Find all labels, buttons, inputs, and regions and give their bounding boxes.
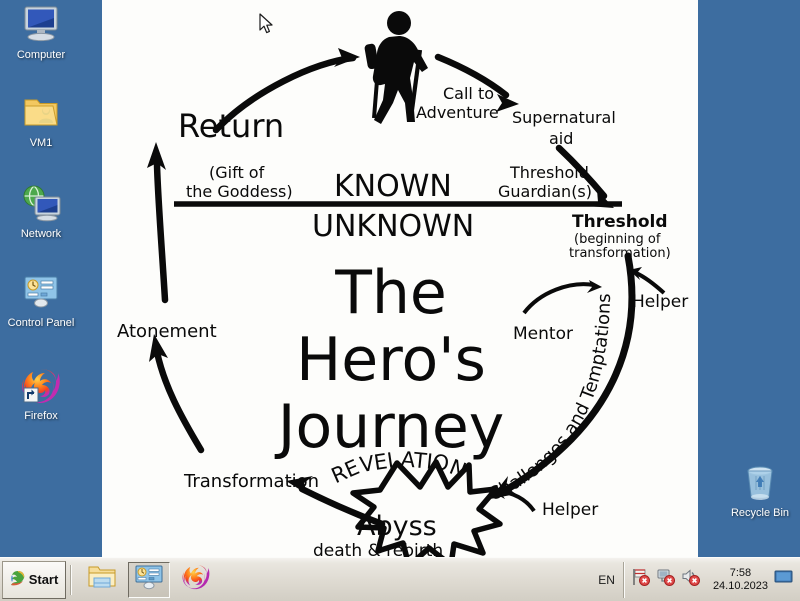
heros-journey-diagram: Return (Gift of the Goddess) KNOWN UNKNO…	[102, 0, 698, 557]
diagram-title-line-3: Journey	[274, 392, 505, 462]
label-return: Return	[178, 107, 284, 145]
recycle-bin-icon	[721, 462, 799, 506]
diagram-svg: Return (Gift of the Goddess) KNOWN UNKNO…	[102, 0, 698, 557]
label-helper-top: Helper	[632, 292, 688, 312]
tray-icons[interactable]	[623, 562, 707, 598]
label-threshold-sub-1: (beginning of	[574, 232, 661, 247]
challenges-arc	[490, 256, 632, 499]
atonement-arrow	[149, 334, 201, 450]
label-supernatural-aid-2: aid	[549, 129, 573, 148]
windows-logo-icon	[10, 570, 26, 589]
label-transformation: Transformation	[183, 471, 319, 492]
desktop-icon-firefox[interactable]: Firefox	[2, 365, 80, 423]
label-abyss: Abyss	[357, 511, 437, 542]
computer-icon	[2, 4, 80, 48]
desktop-icon-label: VM1	[2, 137, 80, 150]
desktop-icon-label: Computer	[2, 49, 80, 62]
label-threshold: Threshold	[572, 212, 668, 232]
taskbar-button-image-viewer[interactable]	[128, 562, 170, 598]
diagram-title-line-2: Hero's	[296, 325, 486, 395]
clock[interactable]: 7:58 24.10.2023	[707, 567, 774, 593]
desktop-icon-label: Firefox	[2, 410, 80, 423]
monitor-icon[interactable]	[774, 569, 796, 590]
label-threshold-guardians-1: Threshold	[509, 163, 589, 182]
firefox-icon	[2, 365, 80, 409]
desktop-icon-network[interactable]: Network	[2, 183, 80, 241]
start-button-label: Start	[29, 572, 59, 587]
desktop-icon-vm1[interactable]: VM1	[2, 92, 80, 150]
desktop-icon-recycle-bin[interactable]: Recycle Bin	[721, 462, 799, 520]
network-globe-icon	[2, 183, 80, 227]
desktop-icon-control-panel[interactable]: Control Panel	[2, 272, 80, 330]
taskbar-separator	[70, 565, 72, 595]
start-button[interactable]: Start	[2, 561, 66, 599]
volume-icon[interactable]	[681, 568, 700, 591]
desktop-icon-computer[interactable]: Computer	[2, 4, 80, 62]
label-unknown: UNKNOWN	[312, 209, 474, 244]
label-atonement: Atonement	[117, 321, 217, 342]
label-helper-bottom: Helper	[542, 500, 598, 520]
clock-date: 24.10.2023	[713, 580, 768, 593]
label-abyss-sub: death & rebirth	[313, 541, 443, 557]
taskbar-button-file-explorer[interactable]	[82, 563, 122, 597]
desktop-icon-label: Control Panel	[2, 317, 80, 330]
folder-icon	[87, 563, 117, 596]
control-panel-icon	[2, 272, 80, 316]
label-gift-of-goddess-1: (Gift of	[209, 163, 265, 182]
firefox-icon	[181, 562, 211, 597]
label-threshold-guardians-2: Guardian(s)	[498, 182, 592, 201]
folder-user-icon	[2, 92, 80, 136]
network-icon[interactable]	[656, 568, 675, 591]
control-panel-icon	[134, 564, 164, 595]
mentor-arrow	[524, 280, 602, 313]
label-supernatural-aid-1: Supernatural	[512, 108, 616, 127]
gift-of-goddess-arrow	[147, 142, 166, 300]
label-known: KNOWN	[334, 169, 452, 204]
desktop-icon-label: Recycle Bin	[721, 507, 799, 520]
label-mentor: Mentor	[513, 324, 573, 344]
label-call-to-adventure-2: Adventure	[416, 103, 499, 122]
label-call-to-adventure-1: Call to	[443, 84, 494, 103]
language-indicator[interactable]: EN	[590, 573, 623, 587]
action-center-flag-icon[interactable]	[631, 568, 650, 591]
desktop-icon-label: Network	[2, 228, 80, 241]
clock-time: 7:58	[713, 567, 768, 580]
label-gift-of-goddess-2: the Goddess)	[186, 182, 293, 201]
taskbar-button-firefox[interactable]	[176, 563, 216, 597]
image-viewer-panel[interactable]: Return (Gift of the Goddess) KNOWN UNKNO…	[102, 0, 698, 557]
desktop[interactable]: Computer VM1 Net	[0, 0, 800, 557]
system-tray[interactable]: EN	[590, 558, 800, 601]
diagram-title-line-1: The	[334, 258, 447, 328]
label-threshold-sub-2: transformation)	[569, 246, 671, 261]
taskbar[interactable]: Start	[0, 557, 800, 601]
